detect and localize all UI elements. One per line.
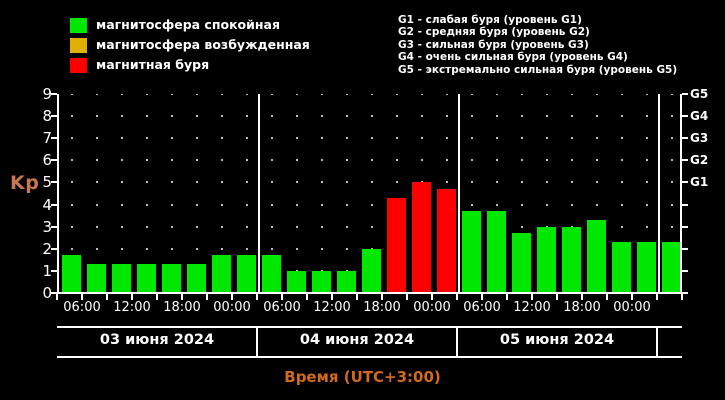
x-axis-tick xyxy=(606,294,608,300)
storm-level-description: G2 - средняя буря (уровень G2) xyxy=(398,26,718,38)
y-axis-tick-labels: 0123456789 xyxy=(30,86,52,301)
g-axis-tick-label: G5 xyxy=(690,88,708,100)
legend-item: магнитосфера возбужденная xyxy=(70,36,390,55)
bar xyxy=(637,242,657,293)
x-axis-time-label: 00:00 xyxy=(613,301,650,315)
g-axis-tick-labels: G1G2G3G4G5 xyxy=(690,86,724,301)
chart-plot-wrapper xyxy=(57,94,682,293)
legend-item: магнитосфера спокойная xyxy=(70,16,390,35)
g-axis-tick-label: G1 xyxy=(690,176,708,188)
bar-series xyxy=(59,94,680,293)
x-axis-tick xyxy=(156,294,158,300)
x-axis-tick xyxy=(656,294,658,300)
bar xyxy=(462,211,482,293)
bar xyxy=(662,242,682,293)
x-axis-tick xyxy=(506,294,508,300)
x-axis-time-label: 00:00 xyxy=(213,301,250,315)
x-axis-time-label: 18:00 xyxy=(163,301,200,315)
bar xyxy=(162,264,182,293)
bar xyxy=(512,233,532,293)
g-axis-tick xyxy=(682,159,688,161)
x-axis-time-label: 12:00 xyxy=(113,301,150,315)
storm-level-descriptions: G1 - слабая буря (уровень G1) G2 - средн… xyxy=(398,14,718,76)
bar xyxy=(337,271,357,293)
bar xyxy=(312,271,332,293)
x-axis-time-label: 00:00 xyxy=(413,301,450,315)
x-axis-tick xyxy=(306,294,308,300)
g-axis-tick xyxy=(682,181,688,183)
bar xyxy=(487,211,507,293)
legend-swatch-quiet xyxy=(70,18,87,33)
legend-swatch-unsettled xyxy=(70,38,87,53)
bar xyxy=(387,198,407,293)
bar xyxy=(112,264,132,293)
x-axis-time-label: 06:00 xyxy=(463,301,500,315)
bar xyxy=(537,227,557,293)
date-separator xyxy=(656,326,658,358)
bar xyxy=(87,264,107,293)
g-axis-ticks xyxy=(682,94,688,293)
bar xyxy=(437,189,457,293)
legend-label: магнитосфера спокойная xyxy=(96,19,280,32)
x-axis-time-label: 06:00 xyxy=(263,301,300,315)
storm-level-description: G1 - слабая буря (уровень G1) xyxy=(398,14,718,26)
bar xyxy=(237,255,257,293)
x-axis-tick xyxy=(556,294,558,300)
legend-swatch-storm xyxy=(70,58,87,73)
bar xyxy=(137,264,157,293)
date-separator xyxy=(256,326,258,358)
x-axis-time-label: 18:00 xyxy=(363,301,400,315)
day-divider xyxy=(658,94,660,293)
g-axis-tick xyxy=(682,93,688,95)
x-axis-time-label: 06:00 xyxy=(63,301,100,315)
g-axis-tick xyxy=(682,137,688,139)
x-axis-time-labels: 06:0012:0018:0000:0006:0012:0018:0000:00… xyxy=(0,301,725,319)
bar xyxy=(412,182,432,293)
g-axis-tick xyxy=(682,204,688,206)
date-label: 03 июня 2024 xyxy=(100,332,214,348)
bar xyxy=(612,242,632,293)
g-axis-tick-label: G4 xyxy=(690,110,708,122)
bar xyxy=(562,227,582,293)
g-axis-tick-label: G3 xyxy=(690,132,708,144)
date-separator xyxy=(456,326,458,358)
day-divider xyxy=(458,94,460,293)
g-axis-tick-label: G2 xyxy=(690,154,708,166)
g-axis-tick xyxy=(682,226,688,228)
bar xyxy=(362,249,382,293)
x-axis-time-label: 12:00 xyxy=(513,301,550,315)
legend-label: магнитная буря xyxy=(96,59,209,72)
day-divider xyxy=(258,94,260,293)
storm-level-description: G5 - экстремально сильная буря (уровень … xyxy=(398,64,718,76)
bar xyxy=(262,255,282,293)
bar xyxy=(287,271,307,293)
bar xyxy=(62,255,82,293)
legend: магнитосфера спокойная магнитосфера возб… xyxy=(70,16,390,76)
x-axis-tick xyxy=(206,294,208,300)
date-label: 05 июня 2024 xyxy=(500,332,614,348)
storm-level-description: G3 - сильная буря (уровень G3) xyxy=(398,39,718,51)
x-axis-time-label: 18:00 xyxy=(563,301,600,315)
g-axis-tick xyxy=(682,115,688,117)
x-axis-title: Время (UTC+3:00) xyxy=(0,368,725,386)
x-axis-tick xyxy=(106,294,108,300)
date-label: 04 июня 2024 xyxy=(300,332,414,348)
g-axis-tick xyxy=(682,248,688,250)
bar xyxy=(212,255,232,293)
x-axis-tick xyxy=(56,294,58,300)
bar xyxy=(187,264,207,293)
x-axis-tick xyxy=(456,294,458,300)
g-axis-tick xyxy=(682,270,688,272)
bar xyxy=(587,220,607,293)
x-axis-tick xyxy=(681,294,683,300)
legend-label: магнитосфера возбужденная xyxy=(96,39,310,52)
storm-level-description: G4 - очень сильная буря (уровень G4) xyxy=(398,51,718,63)
x-axis-tick xyxy=(256,294,258,300)
x-axis-tick xyxy=(356,294,358,300)
x-axis-time-label: 12:00 xyxy=(313,301,350,315)
chart-plot-area xyxy=(57,94,682,293)
x-axis-tick xyxy=(406,294,408,300)
legend-item: магнитная буря xyxy=(70,56,390,75)
